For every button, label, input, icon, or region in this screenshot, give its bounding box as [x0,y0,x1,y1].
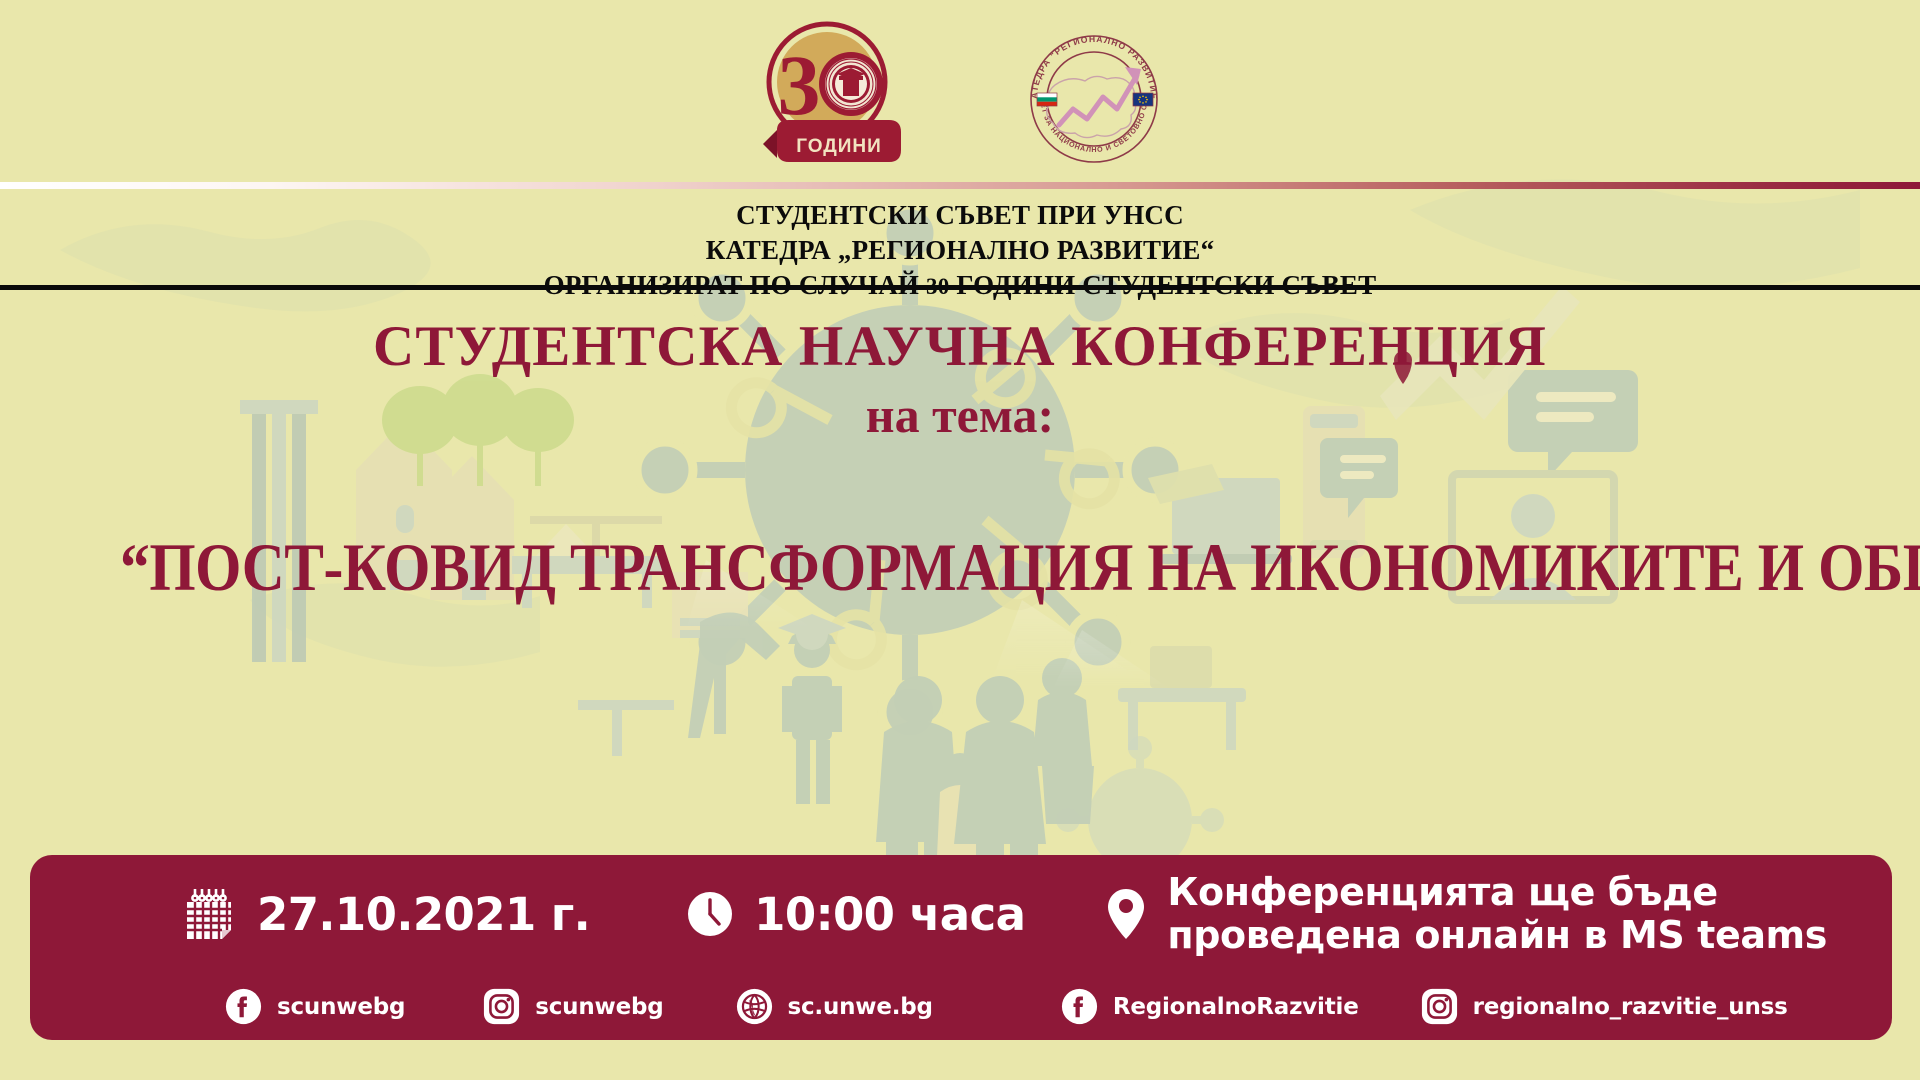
conference-title: СТУДЕНТСКА НАУЧНА КОНФЕРЕНЦИЯ [0,318,1920,376]
calendar-icon [185,887,235,941]
svg-text:КАТЕДРА "РЕГИОНАЛНО РАЗВИТИЕ": КАТЕДРА "РЕГИОНАЛНО РАЗВИТИЕ" [1015,15,1159,100]
solid-divider [0,285,1920,290]
instagram-icon[interactable] [483,988,520,1025]
place-line-1: Конференцията ще бъде [1167,871,1827,914]
social-instagram-regionalno-razvitie-unss[interactable]: regionalno_razvitie_unss [1421,988,1788,1025]
place-item: Конференцията ще бъде проведена онлайн в… [1107,871,1827,956]
facebook-icon[interactable] [1061,988,1098,1025]
date-value: 27.10.2021 г. [257,888,590,941]
gradient-divider [0,182,1920,189]
social-handle: regionalno_razvitie_unss [1473,994,1788,1020]
social-facebook-regionalnorazvitie[interactable]: RegionalnoRazvitie [1061,988,1359,1025]
svg-text:ГОДИНИ: ГОДИНИ [796,136,882,157]
globe-icon[interactable] [736,988,773,1025]
department-logo: КАТЕДРА "РЕГИОНАЛНО РАЗВИТИЕ" УНИВЕРСИТЕ… [1015,15,1173,173]
social-facebook-scunwebg[interactable]: scunwebg [225,988,405,1025]
organizer-line-1: СТУДЕНТСКИ СЪВЕТ ПРИ УНСС [0,198,1920,233]
conference-poster: 3 ГОДИНИ [0,0,1920,1080]
conference-headline: “ПОСТ-КОВИД ТРАНСФОРМАЦИЯ НА ИКОНОМИКИТЕ… [120,533,1800,601]
social-handle: scunwebg [535,994,663,1020]
social-handle: scunwebg [277,994,405,1020]
social-row: scunwebg scunwebg [30,973,1892,1040]
place-value: Конференцията ще бъде проведена онлайн в… [1167,871,1827,956]
place-line-2: проведена онлайн в MS teams [1167,914,1827,957]
location-pin-icon [1107,888,1145,940]
details-row: 27.10.2021 г. 10:00 часа [30,855,1892,973]
conference-subtitle: на тема: [0,390,1920,440]
facebook-icon[interactable] [225,988,262,1025]
logo-row: 3 ГОДИНИ [0,14,1920,174]
social-handle: sc.unwe.bg [788,994,933,1020]
social-instagram-scunwebg[interactable]: scunwebg [483,988,663,1025]
organizer-line-2: КАТЕДРА „РЕГИОНАЛНО РАЗВИТИЕ“ [0,233,1920,268]
anniversary-logo: 3 ГОДИНИ [747,18,907,170]
svg-text:3: 3 [778,37,821,133]
details-banner: 27.10.2021 г. 10:00 часа [30,855,1892,1040]
clock-icon [686,890,734,938]
date-item: 27.10.2021 г. [185,887,590,941]
time-value: 10:00 часа [754,888,1025,941]
social-website-scunwebg[interactable]: sc.unwe.bg [736,988,933,1025]
social-handle: RegionalnoRazvitie [1113,994,1359,1020]
instagram-icon[interactable] [1421,988,1458,1025]
time-item: 10:00 часа [686,888,1025,941]
